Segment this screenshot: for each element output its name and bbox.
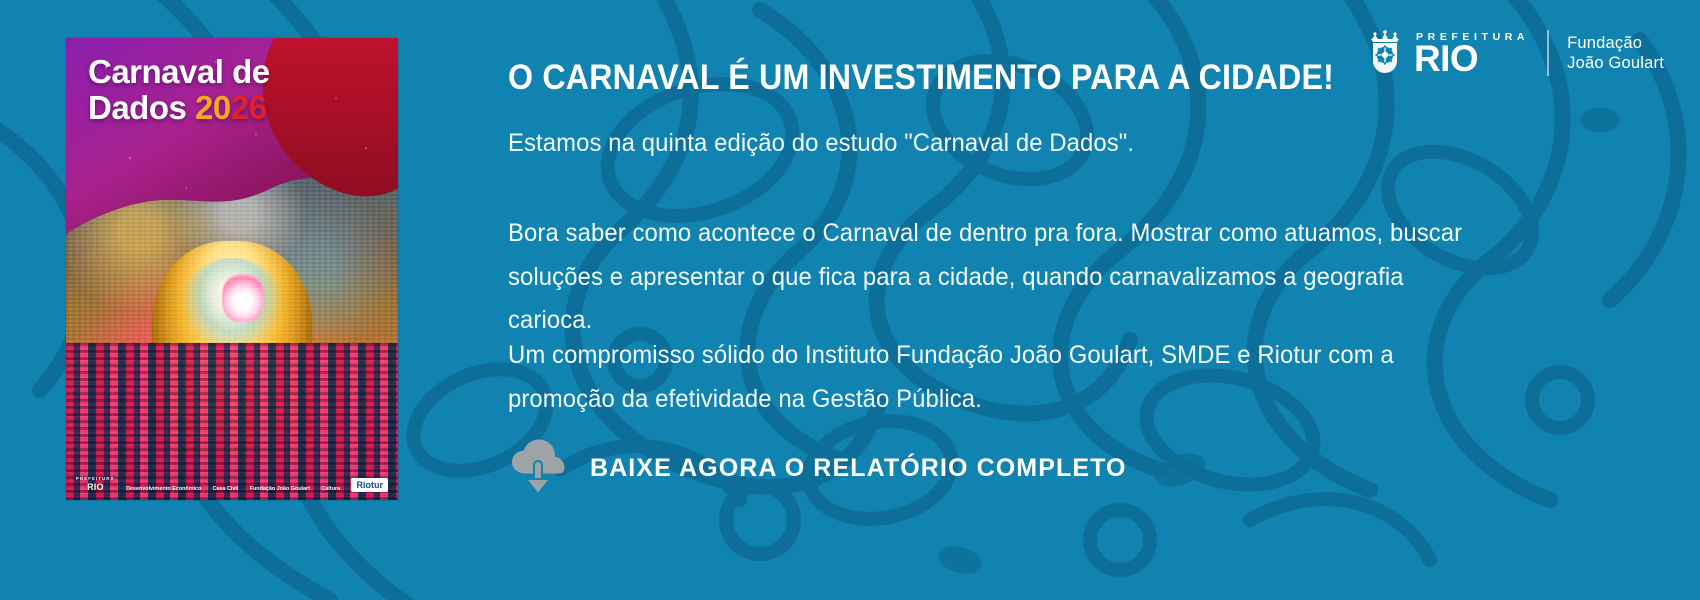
prefeitura-rio-logo: PREFEITURA RIO [1363, 30, 1529, 76]
cloud-download-icon [508, 437, 568, 499]
rio-coat-of-arms-icon [1363, 30, 1407, 76]
brand-lockup: PREFEITURA RIO Fundação João Goulart [1363, 30, 1664, 76]
cover-logo-prefeitura-rio: PREFEITURARIO [76, 477, 115, 492]
carnaval-de-dados-banner: Carnaval de Dados 2026 PREFEITURARIO Des… [0, 0, 1700, 600]
cover-title-line2: Dados [88, 89, 186, 126]
report-cover[interactable]: Carnaval de Dados 2026 PREFEITURARIO Des… [66, 38, 398, 500]
brand-divider [1547, 30, 1549, 76]
cover-logo-desenvolvimento-economico: Desenvolvimento Econômico [126, 486, 201, 492]
cover-year-second: 26 [231, 89, 267, 126]
download-report-button[interactable]: BAIXE AGORA O RELATÓRIO COMPLETO [508, 437, 1127, 499]
paragraph-intro: Estamos na quinta edição do estudo "Carn… [508, 122, 1473, 166]
cover-year-first: 20 [195, 89, 231, 126]
download-report-label: BAIXE AGORA O RELATÓRIO COMPLETO [590, 454, 1127, 483]
cover-title: Carnaval de Dados 2026 [88, 54, 270, 125]
cover-logo-riotur: Riotur [351, 478, 388, 492]
paragraph-commitment: Um compromisso sólido do Instituto Funda… [508, 334, 1473, 421]
cover-logo-casa-civil: Casa Civil [213, 486, 239, 492]
fundacao-line-1: Fundação [1567, 33, 1664, 53]
float-plume [222, 271, 263, 322]
banner-content: O CARNAVAL É UM INVESTIMENTO PARA A CIDA… [508, 0, 1508, 600]
cover-logo-fundacao-joao-goulart: Fundação João Goulart [250, 486, 310, 492]
fundacao-line-2: João Goulart [1567, 53, 1664, 73]
cover-partner-logos: PREFEITURARIO Desenvolvimento Econômico … [66, 477, 398, 496]
fundacao-joao-goulart-logo: Fundação João Goulart [1567, 33, 1664, 73]
report-cover-image: Carnaval de Dados 2026 PREFEITURARIO Des… [66, 38, 398, 500]
paragraph-description: Bora saber como acontece o Carnaval de d… [508, 212, 1473, 343]
prefeitura-wordmark: RIO [1414, 44, 1529, 74]
cover-title-line1: Carnaval de [88, 54, 270, 90]
parade-float [152, 241, 311, 454]
page-title: O CARNAVAL É UM INVESTIMENTO PARA A CIDA… [508, 58, 1334, 98]
cover-logo-cultura: Cultura [321, 486, 340, 492]
